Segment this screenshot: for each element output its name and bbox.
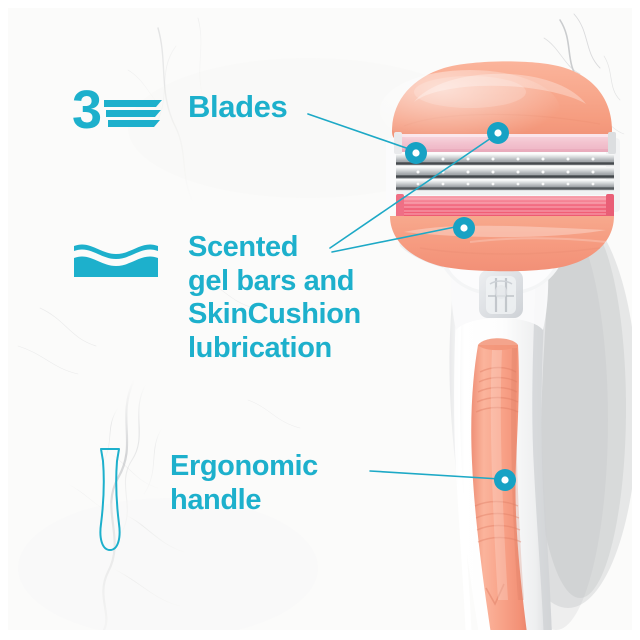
feature-line: Ergonomic <box>170 450 318 484</box>
feature-line: lubrication <box>188 332 361 366</box>
product-feature-callout-image: 3 Blades Scented gel bars and SkinCushio… <box>0 0 640 640</box>
blade-lines-glyph <box>104 97 166 131</box>
feature-blades: 3 Blades <box>72 86 287 134</box>
feature-handle: Ergonomic handle <box>88 446 318 556</box>
feature-blades-label: Blades <box>188 90 287 124</box>
feature-gel-bars: Scented gel bars and SkinCushion lubrica… <box>72 236 361 365</box>
feature-line: handle <box>170 484 318 518</box>
handle-outline-glyph <box>88 446 132 556</box>
feature-line: SkinCushion <box>188 298 361 332</box>
feature-handle-label: Ergonomic handle <box>170 450 318 517</box>
feature-line: Blades <box>188 90 287 124</box>
feature-line: gel bars and <box>188 265 361 299</box>
feature-gel-label: Scented gel bars and SkinCushion lubrica… <box>188 231 361 365</box>
three-blade-lines-icon: 3 <box>72 86 166 134</box>
blade-count-badge: 3 <box>72 86 100 134</box>
ergonomic-handle-outline-icon <box>88 446 132 556</box>
gel-wave-glyph <box>72 236 160 280</box>
gel-wave-icon <box>72 236 160 280</box>
feature-line: Scented <box>188 231 361 265</box>
